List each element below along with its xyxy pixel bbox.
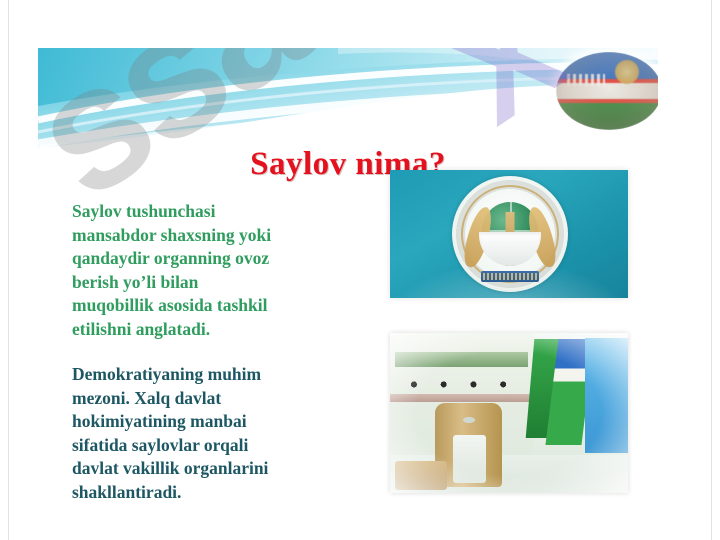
page-gutter-left [8, 0, 9, 540]
election-commission-seal-icon [452, 176, 568, 292]
seal-banner [481, 271, 539, 282]
flag-badge-vignette [556, 52, 658, 130]
paragraph-definition: Saylov tushunchasi mansabdor shaxsning y… [72, 200, 372, 341]
poll-photo-vignette [390, 333, 628, 493]
emblem-image [390, 170, 628, 298]
slide-text-column: Saylov tushunchasi mansabdor shaxsning y… [72, 200, 372, 504]
screenshot-canvas: Saylov nima? Saylov tushunchasi mansabdo… [0, 0, 720, 540]
presentation-slide[interactable]: Saylov nima? Saylov tushunchasi mansabdo… [38, 48, 658, 520]
uzbekistan-flag-badge-icon [556, 52, 658, 130]
paragraph-democracy-criterion: Demokratiyaning muhim mezoni. Xalq davla… [72, 363, 372, 504]
flag-badge-inner [556, 52, 658, 130]
page-gutter-right [711, 0, 712, 540]
polling-station-image [390, 333, 628, 493]
